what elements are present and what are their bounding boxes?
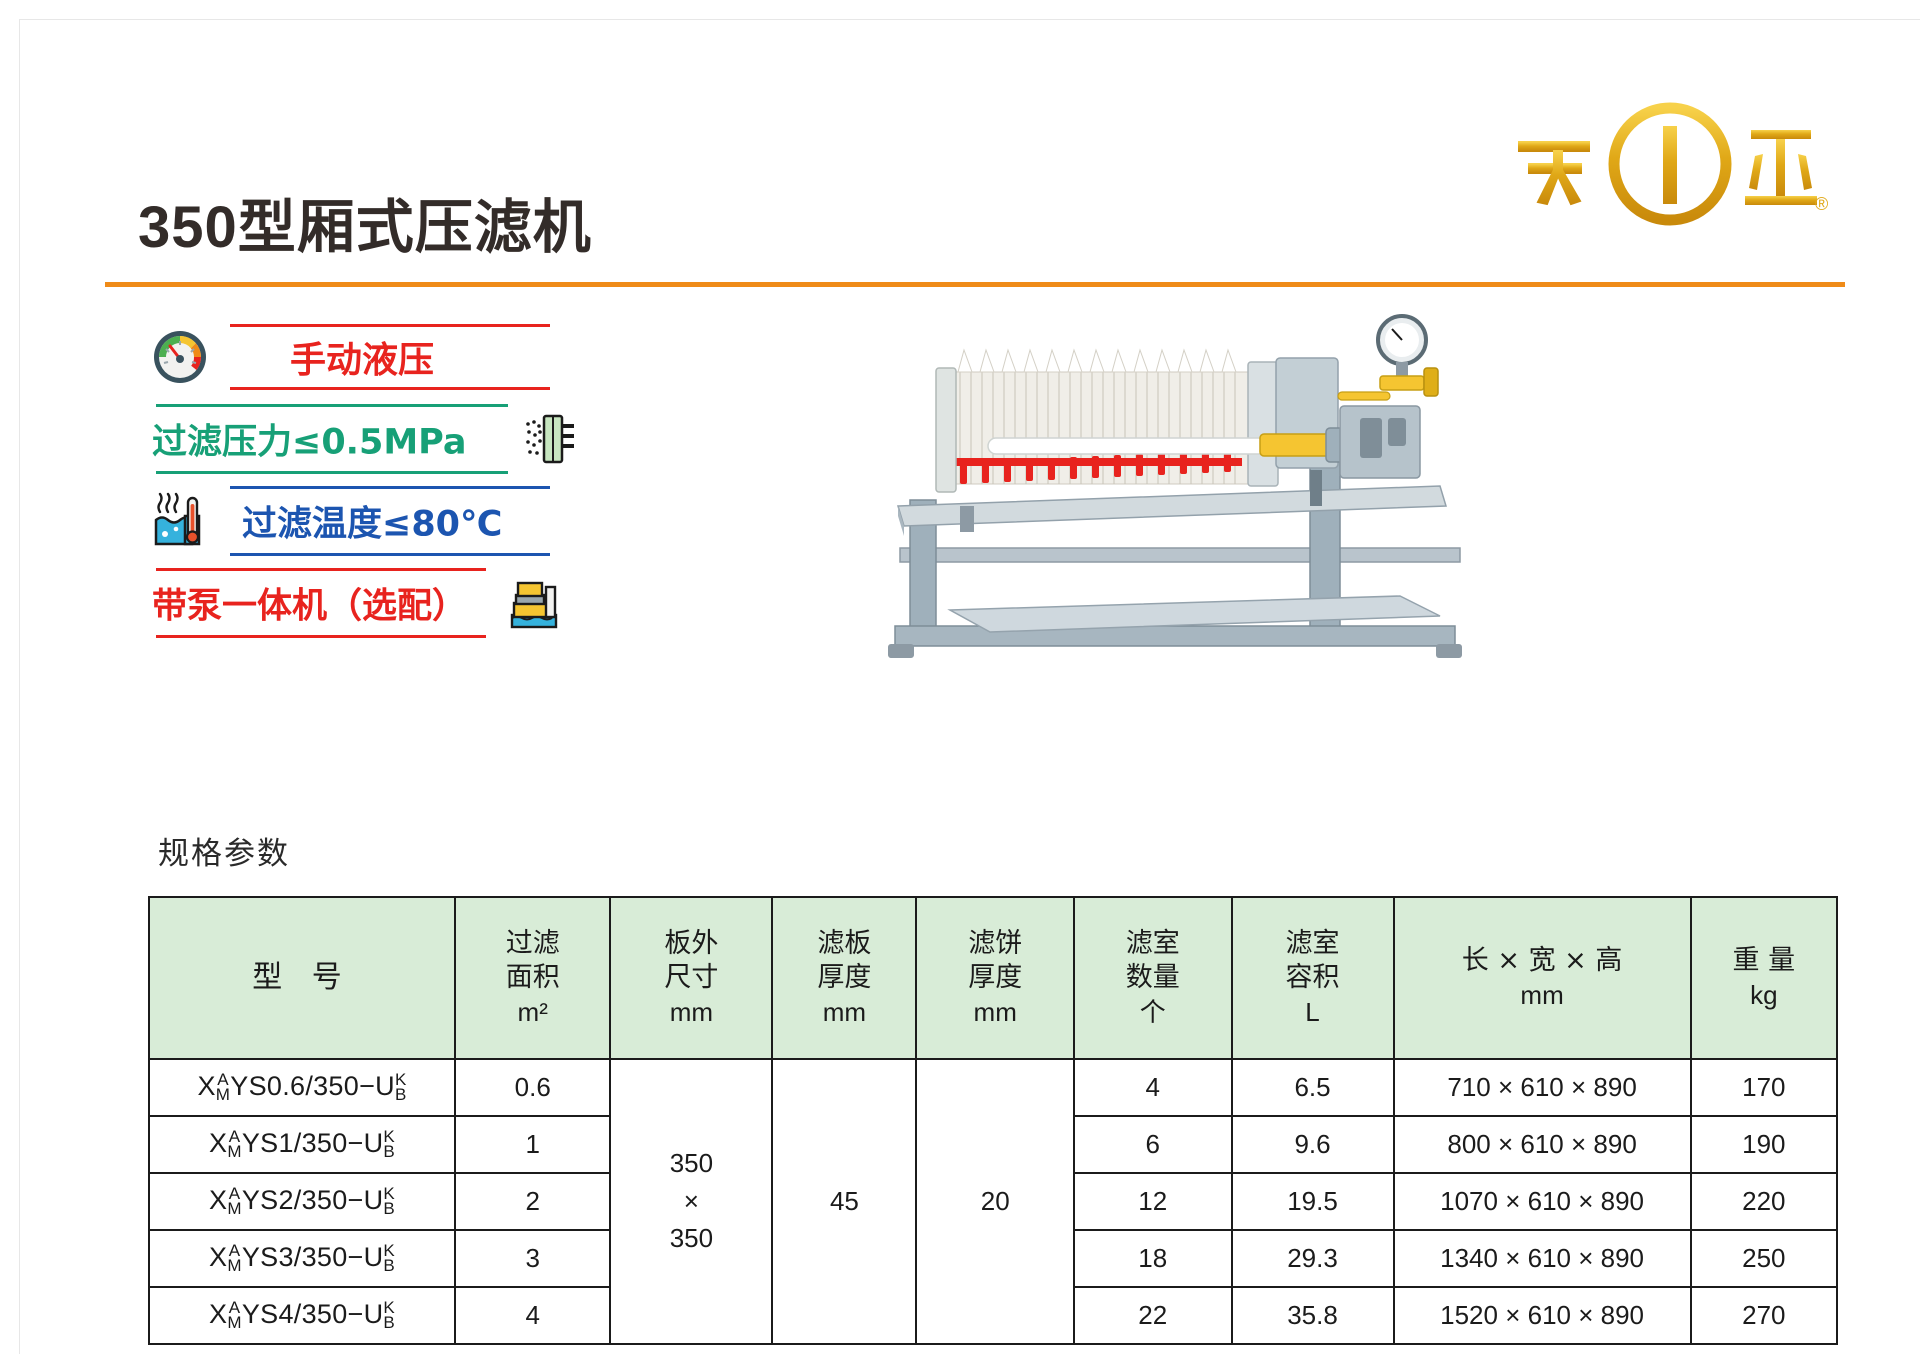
cell-weight: 170 — [1691, 1059, 1837, 1116]
col-header-dimensions: 长 × 宽 × 高 mm — [1394, 897, 1691, 1059]
feature-item-manual-hydraulic: 手动液压 — [150, 320, 650, 394]
feature-rule-top — [230, 324, 550, 327]
cell-chamber-count: 4 — [1074, 1059, 1232, 1116]
cell-filter-area: 3 — [455, 1230, 610, 1287]
spec-table: 型 号 过滤 面积 m² 板外 尺寸 mm 滤板 厚度 — [148, 896, 1838, 1345]
model-affix: KB — [395, 1072, 407, 1103]
cell-chamber-volume: 29.3 — [1232, 1230, 1394, 1287]
feature-rule-bottom — [156, 471, 508, 474]
col-header-filter-area: 过滤 面积 m² — [455, 897, 610, 1059]
cell-chamber-volume: 6.5 — [1232, 1059, 1394, 1116]
table-header-row: 型 号 过滤 面积 m² 板外 尺寸 mm 滤板 厚度 — [149, 897, 1837, 1059]
cell-chamber-volume: 35.8 — [1232, 1287, 1394, 1344]
model-affix: AM — [227, 1243, 241, 1274]
cell-dimensions: 710 × 610 × 890 — [1394, 1059, 1691, 1116]
page: 350型厢式压滤机 — [0, 0, 1920, 1354]
unit-label: mm — [613, 996, 769, 1029]
page-title: 350型厢式压滤机 — [138, 180, 592, 264]
cell-chamber-count: 12 — [1074, 1173, 1232, 1230]
feature-label: 手动液压 — [290, 331, 434, 383]
cell-model: XAMYS2/350−UKB — [149, 1173, 455, 1230]
cell-weight: 250 — [1691, 1230, 1837, 1287]
feature-rule-bottom — [230, 553, 550, 556]
registered-mark: ® — [1815, 194, 1828, 214]
cell-dimensions: 1520 × 610 × 890 — [1394, 1287, 1691, 1344]
feature-list: 手动液压 过滤压力≤0.5MPa — [150, 320, 650, 648]
feature-item-pump-integrated: 带泵一体机（选配） — [150, 566, 650, 640]
cell-chamber-volume: 19.5 — [1232, 1173, 1394, 1230]
model-affix: AM — [216, 1072, 230, 1103]
model-affix: AM — [227, 1186, 241, 1217]
filter-press-product-photo — [840, 310, 1580, 670]
unit-label: mm — [1397, 979, 1688, 1012]
cell-model: XAMYS1/350−UKB — [149, 1116, 455, 1173]
cell-dimensions: 1070 × 610 × 890 — [1394, 1173, 1691, 1230]
model-affix: AM — [227, 1129, 241, 1160]
cell-cake-thickness-merged: 20 — [916, 1059, 1074, 1344]
feature-rule-bottom — [156, 635, 486, 638]
unit-label: m² — [458, 996, 607, 1029]
feature-label: 过滤压力≤0.5MPa — [152, 414, 467, 465]
col-header-model: 型 号 — [149, 897, 455, 1059]
thermometer-icon — [152, 492, 214, 550]
cell-model: XAMYS0.6/350−UKB — [149, 1059, 455, 1116]
unit-label: L — [1235, 996, 1391, 1029]
cell-filter-area: 4 — [455, 1287, 610, 1344]
gauge-icon — [152, 329, 208, 385]
feature-rule-top — [156, 568, 486, 571]
col-header-chamber-count: 滤室 数量 个 — [1074, 897, 1232, 1059]
cell-filter-area: 0.6 — [455, 1059, 610, 1116]
cell-weight: 220 — [1691, 1173, 1837, 1230]
cell-chamber-volume: 9.6 — [1232, 1116, 1394, 1173]
col-header-plate-size: 板外 尺寸 mm — [610, 897, 772, 1059]
cell-weight: 270 — [1691, 1287, 1837, 1344]
model-affix: KB — [383, 1186, 395, 1217]
model-affix: KB — [383, 1243, 395, 1274]
cell-plate-size-merged: 350 × 350 — [610, 1059, 772, 1344]
model-affix: KB — [383, 1300, 395, 1331]
col-header-chamber-volume: 滤室 容积 L — [1232, 897, 1394, 1059]
model-affix: KB — [383, 1129, 395, 1160]
spec-section-title: 规格参数 — [158, 828, 290, 873]
feature-rule-bottom — [230, 387, 550, 390]
cell-plate-thickness-merged: 45 — [772, 1059, 916, 1344]
cell-model: XAMYS3/350−UKB — [149, 1230, 455, 1287]
cell-weight: 190 — [1691, 1116, 1837, 1173]
filter-plate-icon — [522, 410, 580, 468]
feature-item-filter-pressure: 过滤压力≤0.5MPa — [150, 402, 650, 476]
pump-icon — [506, 575, 562, 631]
col-header-weight: 重 量 kg — [1691, 897, 1837, 1059]
header-divider — [105, 282, 1845, 287]
page-canvas: 350型厢式压滤机 — [20, 20, 1920, 1354]
model-affix: AM — [227, 1300, 241, 1331]
tianli-logo: ® — [1505, 98, 1835, 233]
feature-rule-top — [156, 404, 508, 407]
feature-label: 带泵一体机（选配） — [152, 578, 467, 629]
unit-label: mm — [775, 996, 913, 1029]
feature-item-filter-temperature: 过滤温度≤80℃ — [150, 484, 650, 558]
cell-filter-area: 1 — [455, 1116, 610, 1173]
unit-label: kg — [1694, 979, 1834, 1012]
col-header-cake-thickness: 滤饼 厚度 mm — [916, 897, 1074, 1059]
cell-filter-area: 2 — [455, 1173, 610, 1230]
cell-chamber-count: 18 — [1074, 1230, 1232, 1287]
cell-chamber-count: 22 — [1074, 1287, 1232, 1344]
col-header-plate-thickness: 滤板 厚度 mm — [772, 897, 916, 1059]
feature-rule-top — [230, 486, 550, 489]
unit-label: 个 — [1077, 996, 1229, 1029]
unit-label: mm — [919, 996, 1071, 1029]
feature-label: 过滤温度≤80℃ — [242, 496, 502, 547]
cell-dimensions: 800 × 610 × 890 — [1394, 1116, 1691, 1173]
cell-chamber-count: 6 — [1074, 1116, 1232, 1173]
table-row: XAMYS0.6/350−UKB 0.6 350 × 350 45 20 4 6… — [149, 1059, 1837, 1116]
cell-model: XAMYS4/350−UKB — [149, 1287, 455, 1344]
cell-dimensions: 1340 × 610 × 890 — [1394, 1230, 1691, 1287]
